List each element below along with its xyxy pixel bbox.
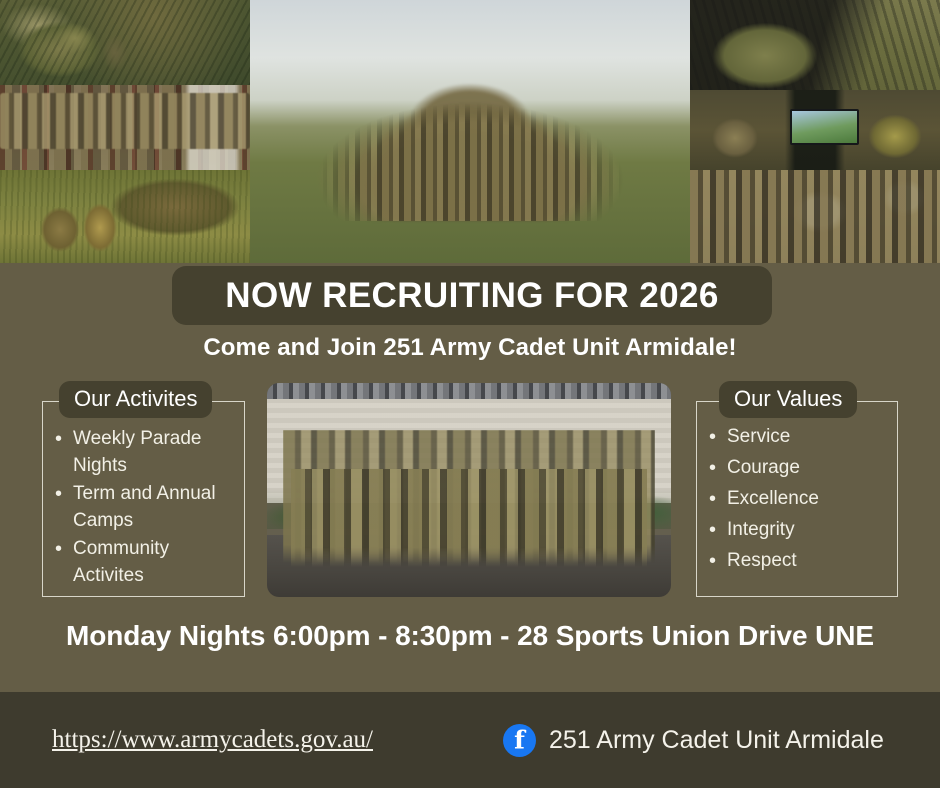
photo-collage: Cadet in camouflage crouching in bushlan… [0,0,940,263]
activities-panel: Our Activites Weekly Parade Nights Term … [42,401,245,597]
list-item: Excellence [705,486,891,513]
ceremonial-parade-photo: Massed cadets on ceremonial parade [690,170,940,263]
large-group-photo: Large group of cadets cheering in a pyra… [250,0,690,263]
website-url-link[interactable]: https://www.armycadets.gov.au/ [52,726,373,754]
facebook-icon [503,724,536,757]
headline-banner: NOW RECRUITING FOR 2026 [172,266,772,325]
values-panel-heading: Our Values [719,381,857,418]
cadet-front-rank [291,469,647,567]
values-panel: Our Values Service Courage Excellence In… [696,401,898,597]
subtitle-text: Come and Join 251 Army Cadet Unit Armida… [0,334,940,362]
footer-bar: https://www.armycadets.gov.au/ 251 Army … [0,692,940,788]
list-item: Term and Annual Camps [51,481,238,535]
list-item: Weekly Parade Nights [51,426,238,480]
list-item: Integrity [705,517,891,544]
list-item: Courage [705,455,891,482]
list-item: Respect [705,548,891,575]
collage-center-column: Large group of cadets cheering in a pyra… [250,0,690,263]
headline-text: NOW RECRUITING FOR 2026 [225,276,718,316]
meeting-details-text: Monday Nights 6:00pm - 8:30pm - 28 Sport… [0,620,940,652]
facebook-link[interactable]: 251 Army Cadet Unit Armidale [503,724,884,757]
collage-left-column: Cadet in camouflage crouching in bushlan… [0,0,250,263]
unit-group-photo: 251 Army Cadet Unit members posed in fro… [267,383,671,597]
list-item: Community Activites [51,536,238,590]
activities-list: Weekly Parade Nights Term and Annual Cam… [43,402,244,590]
facebook-page-name: 251 Army Cadet Unit Armidale [549,726,884,755]
values-list: Service Courage Excellence Integrity Res… [697,402,897,575]
building-roofline [267,383,671,399]
cadet-in-bushland-photo: Cadet in camouflage crouching in bushlan… [0,0,250,85]
cadets-in-field-photo: Two cadets kneeling in grass on field ex… [0,170,250,263]
cadets-on-parade-photo: Cadets in slouch hats formed up beside a… [0,85,250,170]
simulation-training-photo: Cadets using a controller and laptop sim… [690,90,940,170]
collage-right-column: Cadet aiming a rifle with optic at the r… [690,0,940,263]
list-item: Service [705,424,891,451]
activities-panel-heading: Our Activites [59,381,212,418]
recruitment-poster: Cadet in camouflage crouching in bushlan… [0,0,940,788]
rifle-range-photo: Cadet aiming a rifle with optic at the r… [690,0,940,90]
